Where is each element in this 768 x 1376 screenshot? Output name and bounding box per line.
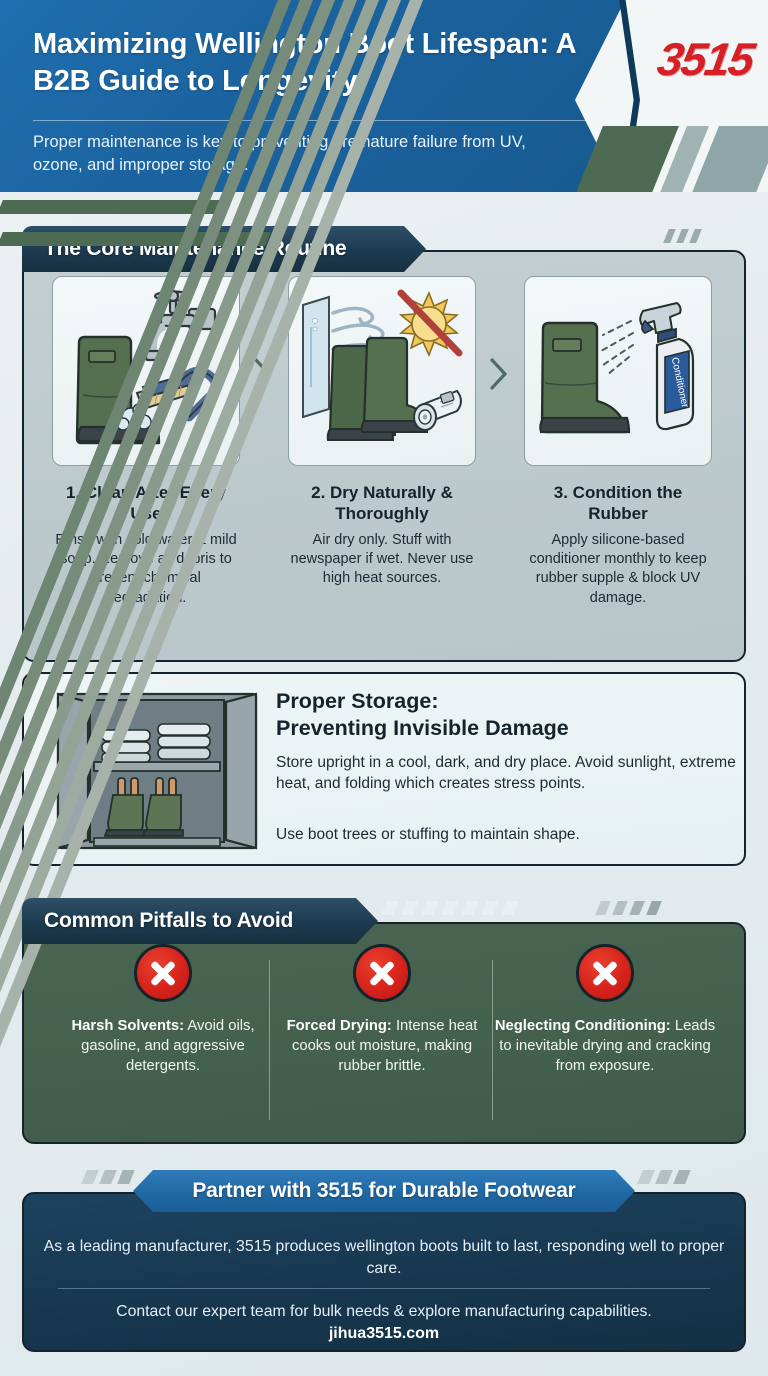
step-2-desc: Air dry only. Stuff with newspaper if we… xyxy=(288,531,476,588)
cta-paragraph-2: Contact our expert team for bulk needs &… xyxy=(40,1301,728,1323)
infographic-page: Maximizing Wellington Boot Lifespan: A B… xyxy=(0,0,768,1376)
pitfall-1-lead: Harsh Solvents: xyxy=(71,1018,184,1034)
red-x-icon xyxy=(134,944,192,1002)
step-chevron-2 xyxy=(488,357,510,391)
wellington-boot-icon xyxy=(540,323,629,432)
core-routine-tick-1 xyxy=(663,229,676,243)
pitfalls-banner: Common Pitfalls to Avoid xyxy=(22,898,378,944)
cta-tick-left-3 xyxy=(117,1170,135,1184)
cta-tick-right-3 xyxy=(673,1170,691,1184)
spray-mist-icon xyxy=(601,321,633,375)
pitfall-item-2: Forced Drying: Intense heat cooks out mo… xyxy=(269,944,495,1076)
cta-website-url[interactable]: jihua3515.com xyxy=(40,1325,728,1343)
red-x-icon xyxy=(353,944,411,1002)
cta-tick-left-1 xyxy=(81,1170,99,1184)
open-door-icon xyxy=(303,297,329,417)
step-card-3: Conditioner 3. Condition the Rubber Appl… xyxy=(524,276,720,608)
no-sun-icon xyxy=(401,293,459,355)
condition-boot-scene-icon: Conditioner xyxy=(525,277,712,466)
step-3-illustration: Conditioner xyxy=(524,276,712,466)
storage-title: Proper Storage: Preventing Invisible Dam… xyxy=(276,688,728,741)
pitfall-2-text: Forced Drying: Intense heat cooks out mo… xyxy=(269,1017,495,1076)
pitfalls-hatch-top xyxy=(384,901,574,915)
cta-tick-right-1 xyxy=(637,1170,655,1184)
core-routine-tick-2 xyxy=(676,229,689,243)
pitfall-2-lead: Forced Drying: xyxy=(287,1018,392,1034)
cta-divider xyxy=(58,1288,710,1289)
storage-title-line1: Proper Storage: xyxy=(276,689,438,713)
cta-banner: Partner with 3515 for Durable Footwear xyxy=(133,1170,635,1212)
step-3-desc: Apply silicone-based conditioner monthly… xyxy=(524,531,712,608)
pitfall-item-3: Neglecting Conditioning: Leads to inevit… xyxy=(492,944,718,1076)
pitfall-item-1: Harsh Solvents: Avoid oils, gasoline, an… xyxy=(50,944,276,1076)
step-card-2: 2. Dry Naturally & Thoroughly Air dry on… xyxy=(288,276,484,589)
cta-tick-right-2 xyxy=(655,1170,673,1184)
storage-paragraph-1: Store upright in a cool, dark, and dry p… xyxy=(276,752,736,794)
boots-pair-icon xyxy=(328,338,429,440)
pitfalls-hatch-right xyxy=(598,901,678,915)
cta-tick-left-2 xyxy=(99,1170,117,1184)
dry-boots-scene-icon xyxy=(289,277,476,466)
pitfall-3-text: Neglecting Conditioning: Leads to inevit… xyxy=(492,1017,718,1076)
storage-paragraph-2: Use boot trees or stuffing to maintain s… xyxy=(276,824,736,845)
header-baseline xyxy=(0,192,768,200)
rolled-newspaper-icon xyxy=(414,391,461,430)
pitfalls-card: Harsh Solvents: Avoid oils, gasoline, an… xyxy=(22,922,746,1144)
red-x-icon xyxy=(576,944,634,1002)
step-3-title: 3. Condition the Rubber xyxy=(524,482,712,524)
step-2-title: 2. Dry Naturally & Thoroughly xyxy=(288,482,476,524)
header-divider xyxy=(33,120,587,121)
step-2-illustration xyxy=(288,276,476,466)
storage-title-line2: Preventing Invisible Damage xyxy=(276,716,569,740)
cta-paragraph-1: As a leading manufacturer, 3515 produces… xyxy=(40,1236,728,1281)
brand-logo-3515: 3515 xyxy=(653,32,756,86)
pitfall-3-lead: Neglecting Conditioning: xyxy=(495,1018,671,1034)
spray-bottle-icon: Conditioner xyxy=(640,303,693,429)
core-routine-tick-3 xyxy=(689,229,702,243)
pitfall-1-text: Harsh Solvents: Avoid oils, gasoline, an… xyxy=(50,1017,276,1076)
core-routine-deco-green-bar xyxy=(0,200,221,214)
